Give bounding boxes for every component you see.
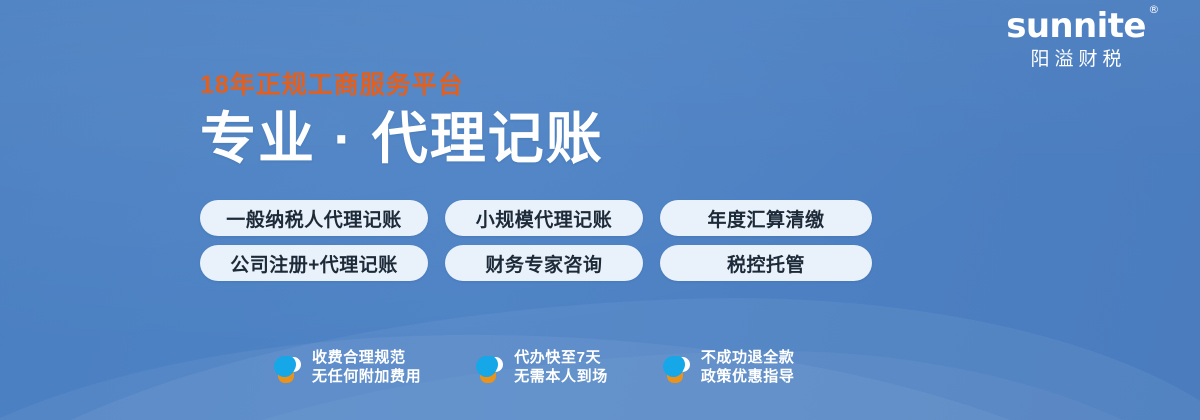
brand-chinese-name: 阳溢财税: [976, 48, 1176, 72]
feature-line-1: 收费合理规范: [312, 349, 406, 366]
feature-line-2: 无任何附加费用: [312, 367, 421, 386]
service-pill-annual-settlement[interactable]: 年度汇算清缴: [660, 200, 872, 236]
feature-item-pricing: 收费合理规范 无任何附加费用: [274, 348, 421, 386]
brand-wordmark-text: sunnite: [1006, 6, 1146, 46]
service-pill-company-registration-bookkeeping[interactable]: 公司注册+代理记账: [200, 245, 428, 281]
feature-item-speed: 代办快至7天 无需本人到场: [476, 348, 608, 386]
service-pill-row-2: 公司注册+代理记账 财务专家咨询 税控托管: [200, 245, 872, 281]
feature-line-1: 不成功退全款: [701, 349, 795, 366]
service-pill-row-1: 一般纳税人代理记账 小规模代理记账 年度汇算清缴: [200, 200, 872, 236]
brand-wordmark: sunnite ®: [1006, 6, 1146, 46]
feature-text-guarantee: 不成功退全款 政策优惠指导: [701, 348, 795, 386]
moon-badge-icon: [274, 352, 301, 383]
hero-copy: 18年正规工商服务平台 专业 · 代理记账: [200, 70, 960, 171]
hero-eyebrow: 18年正规工商服务平台: [200, 70, 960, 100]
registered-trademark-icon: ®: [1148, 4, 1158, 15]
moon-badge-icon: [663, 352, 690, 383]
feature-line-1: 代办快至7天: [514, 349, 601, 366]
hero-headline: 专业 · 代理记账: [200, 107, 960, 171]
moon-badge-icon: [476, 352, 503, 383]
feature-strip: 收费合理规范 无任何附加费用 代办快至7天 无需本人到场: [274, 348, 794, 386]
service-pill-financial-expert-consulting[interactable]: 财务专家咨询: [445, 245, 643, 281]
feature-text-speed: 代办快至7天 无需本人到场: [514, 348, 608, 386]
feature-line-2: 无需本人到场: [514, 367, 608, 386]
feature-text-pricing: 收费合理规范 无任何附加费用: [312, 348, 421, 386]
promo-banner: sunnite ® 阳溢财税 18年正规工商服务平台 专业 · 代理记账 一般纳…: [0, 0, 1200, 420]
feature-item-guarantee: 不成功退全款 政策优惠指导: [663, 348, 795, 386]
brand-logo[interactable]: sunnite ® 阳溢财税: [976, 6, 1176, 72]
service-pill-grid: 一般纳税人代理记账 小规模代理记账 年度汇算清缴 公司注册+代理记账 财务专家咨…: [200, 200, 872, 290]
service-pill-tax-control-hosting[interactable]: 税控托管: [660, 245, 872, 281]
service-pill-general-taxpayer-bookkeeping[interactable]: 一般纳税人代理记账: [200, 200, 428, 236]
service-pill-small-scale-bookkeeping[interactable]: 小规模代理记账: [445, 200, 643, 236]
feature-line-2: 政策优惠指导: [701, 367, 795, 386]
